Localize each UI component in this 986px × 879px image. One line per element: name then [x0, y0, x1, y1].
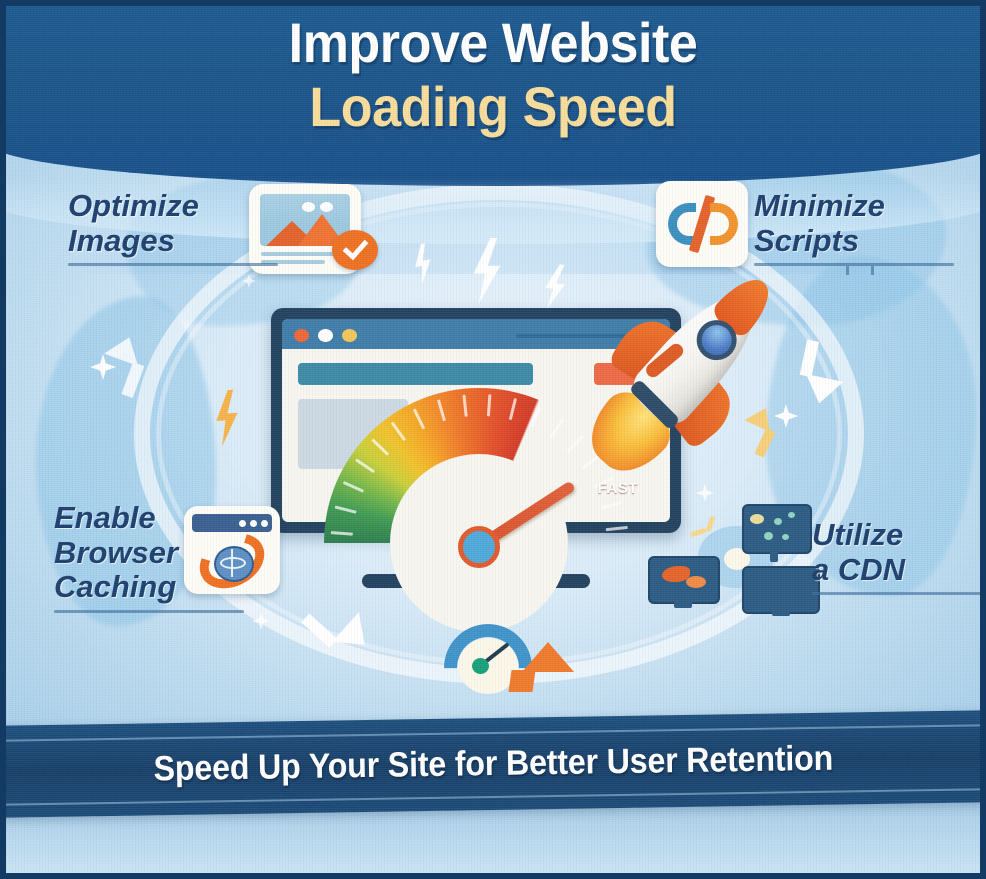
feature-underline: [54, 610, 244, 613]
mini-gauge-hub: [472, 658, 489, 674]
check-circle-icon: [332, 230, 378, 270]
page-search-bar: [298, 363, 533, 385]
footer-text-wrap: Speed Up Your Site for Better User Reten…: [5, 710, 980, 817]
cdn-screen-stand: [772, 610, 790, 616]
image-cloud-dot: [302, 202, 315, 212]
gauge-hub: [458, 526, 500, 568]
browser-dot-close-icon: [294, 329, 309, 342]
cdn-screen-stand: [674, 600, 692, 608]
cdn-network-icon: [646, 504, 826, 614]
cache-titlebar-dot: [250, 520, 257, 527]
feature-underline: [812, 592, 982, 595]
browser-dot-minimize-icon: [318, 329, 333, 342]
feature-label: Enable Browser Caching: [54, 501, 244, 605]
title-line-2: Loading Speed: [40, 75, 946, 139]
infographic-poster: Improve Website Loading Speed: [0, 0, 986, 879]
feature-label: Minimize Scripts: [754, 189, 954, 258]
feature-minimize-scripts[interactable]: Minimize Scripts: [754, 189, 954, 266]
feature-optimize-images[interactable]: Optimize Images: [68, 189, 278, 266]
footer-tagline: Speed Up Your Site for Better User Reten…: [153, 739, 833, 790]
title-line-1: Improve Website: [40, 14, 946, 73]
code-right-chevron: [710, 203, 738, 245]
feature-enable-browser-caching[interactable]: Enable Browser Caching: [54, 501, 244, 613]
browser-dot-maximize-icon: [342, 329, 357, 342]
image-cloud-dot: [320, 202, 333, 212]
feature-label: Optimize Images: [68, 189, 278, 258]
poster-title: Improve Website Loading Speed: [6, 14, 980, 139]
feature-utilize-a-cdn[interactable]: Utilize a CDN: [812, 518, 982, 595]
feature-underline: [68, 263, 278, 266]
feature-underline: [754, 263, 954, 266]
cdn-screen: [742, 504, 812, 554]
cdn-screen: [742, 566, 820, 614]
cache-titlebar-dot: [261, 520, 268, 527]
footer-background: [6, 806, 980, 879]
feature-label: Utilize a CDN: [812, 518, 982, 587]
cdn-screen-stand: [770, 550, 778, 562]
code-brackets-icon: [656, 181, 748, 267]
